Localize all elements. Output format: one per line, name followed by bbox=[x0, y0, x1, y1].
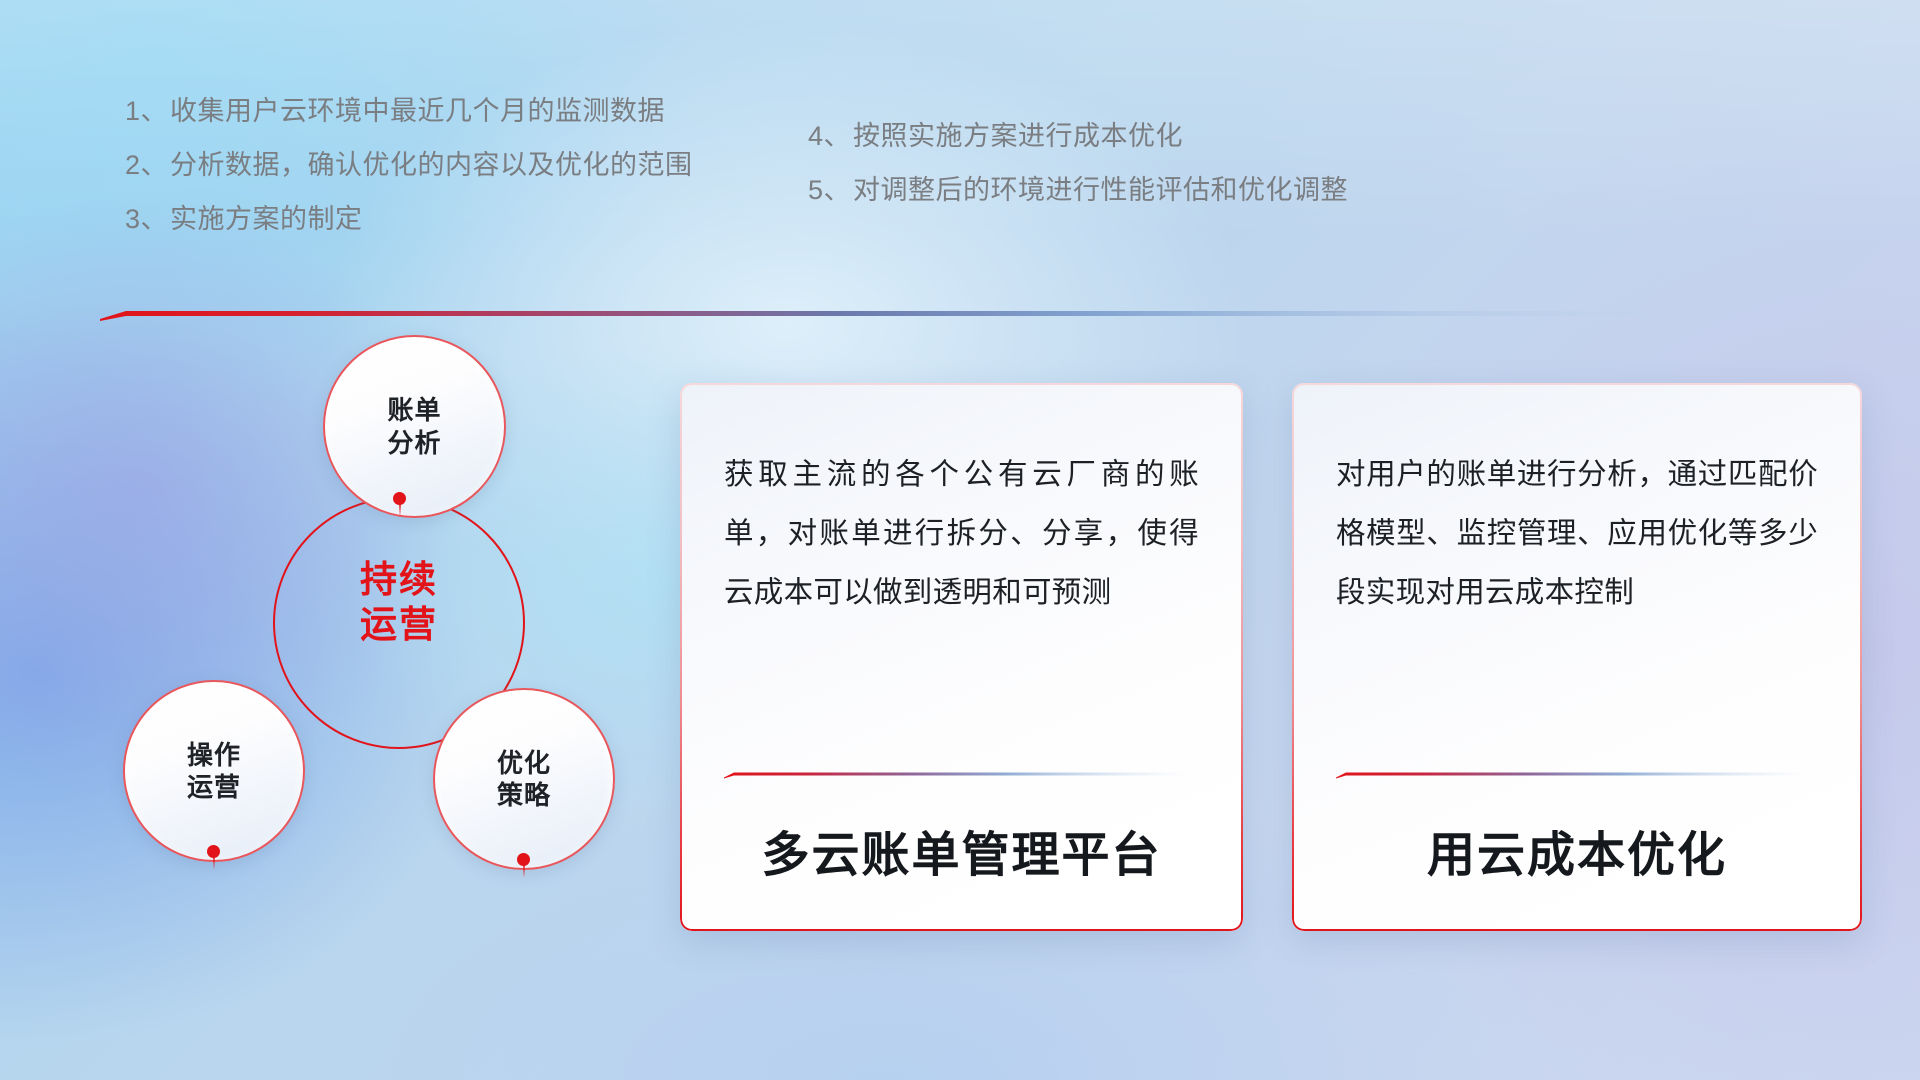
marker-dot-left bbox=[207, 845, 220, 858]
bubble-label-optimization-strategy: 优化 策略 bbox=[497, 747, 551, 812]
center-label-line2: 运营 bbox=[273, 602, 525, 647]
step-text-5: 对调整后的环境进行性能评估和优化调整 bbox=[853, 175, 1348, 205]
bubble-label-line2: 分析 bbox=[387, 427, 441, 460]
step-number-3: 3、 bbox=[125, 204, 168, 234]
card-cloud-cost-optimization[interactable]: 对用户的账单进行分析，通过匹配价格模型、监控管理、应用优化等多少段实现对用云成本… bbox=[1292, 383, 1862, 931]
section-divider bbox=[100, 308, 1710, 322]
bubble-label-line1: 账单 bbox=[387, 394, 441, 427]
center-label-line1: 持续 bbox=[273, 557, 525, 602]
card-title: 用云成本优化 bbox=[1292, 815, 1862, 885]
step-text-2: 分析数据，确认优化的内容以及优化的范围 bbox=[170, 150, 693, 180]
bubble-label-line2: 运营 bbox=[187, 771, 241, 804]
bubble-label-bill-analysis: 账单 分析 bbox=[387, 394, 441, 459]
bubble-optimization-strategy[interactable]: 优化 策略 bbox=[433, 688, 615, 870]
marker-dot-right bbox=[517, 853, 530, 866]
bubble-label-operations: 操作 运营 bbox=[187, 739, 241, 804]
step-number-4: 4、 bbox=[808, 121, 851, 151]
step-item-2: 2、分析数据，确认优化的内容以及优化的范围 bbox=[125, 152, 693, 179]
continuous-operations-diagram: 账单 分析 操作 运营 优化 策略 持续 运营 bbox=[95, 345, 635, 955]
card-accent-rule bbox=[1336, 771, 1811, 779]
step-item-1: 1、收集用户云环境中最近几个月的监测数据 bbox=[125, 98, 693, 125]
bubble-label-line1: 优化 bbox=[497, 747, 551, 780]
step-number-5: 5、 bbox=[808, 175, 851, 205]
step-item-4: 4、按照实施方案进行成本优化 bbox=[808, 123, 1348, 150]
step-text-4: 按照实施方案进行成本优化 bbox=[853, 121, 1183, 151]
step-text-1: 收集用户云环境中最近几个月的监测数据 bbox=[170, 96, 665, 126]
card-title: 多云账单管理平台 bbox=[680, 815, 1243, 885]
card-accent-rule bbox=[724, 771, 1192, 779]
bubble-operations[interactable]: 操作 运营 bbox=[123, 680, 305, 862]
step-list-left: 1、收集用户云环境中最近几个月的监测数据 2、分析数据，确认优化的内容以及优化的… bbox=[125, 98, 693, 260]
step-number-1: 1、 bbox=[125, 96, 168, 126]
step-text-3: 实施方案的制定 bbox=[170, 204, 363, 234]
bubble-bill-analysis[interactable]: 账单 分析 bbox=[323, 335, 506, 518]
bubble-label-line2: 策略 bbox=[497, 779, 551, 812]
step-list-right: 4、按照实施方案进行成本优化 5、对调整后的环境进行性能评估和优化调整 bbox=[808, 123, 1348, 231]
card-multi-cloud-bill-platform[interactable]: 获取主流的各个公有云厂商的账单，对账单进行拆分、分享，使得云成本可以做到透明和可… bbox=[680, 383, 1243, 931]
center-label-continuous-operations: 持续 运营 bbox=[273, 557, 525, 647]
marker-dot-top bbox=[393, 492, 406, 505]
step-item-5: 5、对调整后的环境进行性能评估和优化调整 bbox=[808, 177, 1348, 204]
card-body-text: 对用户的账单进行分析，通过匹配价格模型、监控管理、应用优化等多少段实现对用云成本… bbox=[1336, 445, 1818, 622]
step-item-3: 3、实施方案的制定 bbox=[125, 206, 693, 233]
card-body-text: 获取主流的各个公有云厂商的账单，对账单进行拆分、分享，使得云成本可以做到透明和可… bbox=[724, 445, 1199, 622]
step-number-2: 2、 bbox=[125, 150, 168, 180]
bubble-label-line1: 操作 bbox=[187, 739, 241, 772]
